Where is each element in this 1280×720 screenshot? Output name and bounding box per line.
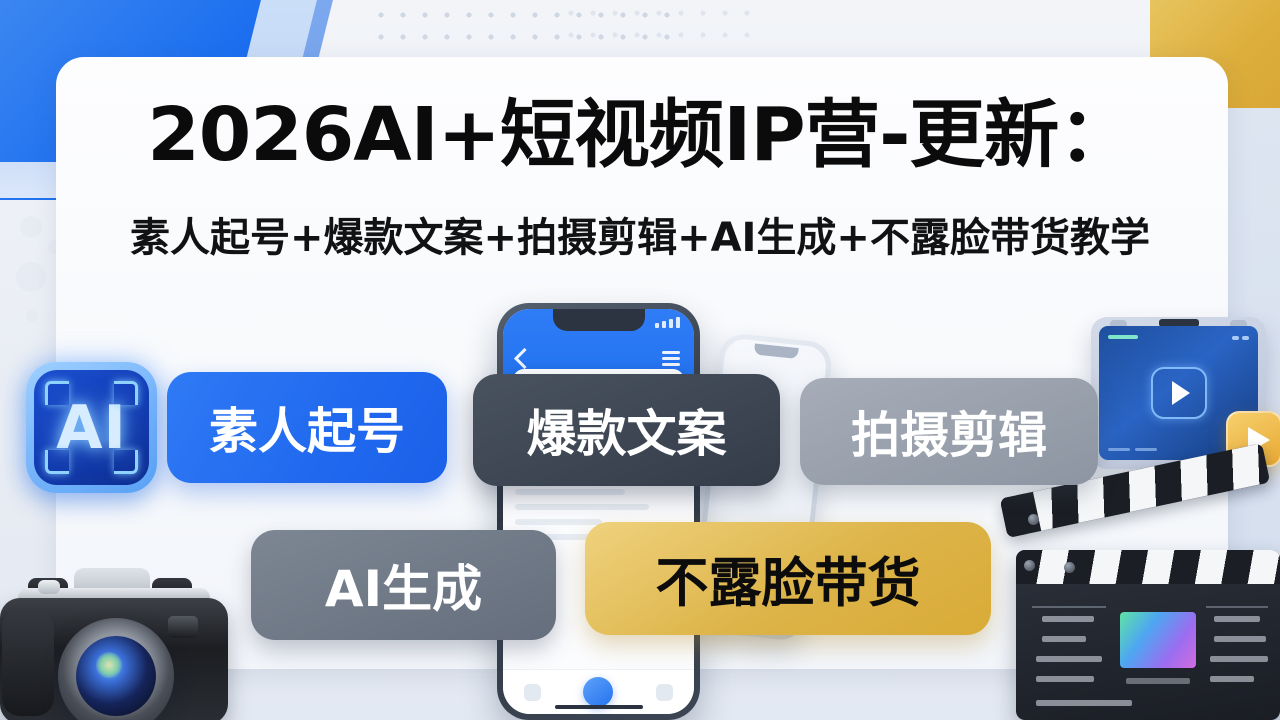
ai-scan-icon: AI <box>26 362 157 493</box>
clapperboard-slate-stripes <box>1016 550 1280 584</box>
tablet-status-right <box>1232 336 1249 340</box>
phone-notch <box>553 309 645 331</box>
scan-bracket-top-left <box>45 381 69 405</box>
lens-flare <box>96 652 122 678</box>
back-chevron-icon <box>514 348 535 369</box>
feature-pill-suren-qihao[interactable]: 素人起号 <box>167 372 447 483</box>
page-subtitle: 素人起号+爆款文案+拍摄剪辑+AI生成+不露脸带货教学 <box>0 218 1280 258</box>
nav-item-left <box>524 684 541 701</box>
camera-sensor-window <box>168 616 198 638</box>
feature-pill-baokuan-wenan[interactable]: 爆款文案 <box>473 374 780 486</box>
nav-item-center <box>583 677 613 707</box>
nav-item-right <box>656 684 673 701</box>
clapperboard-icon <box>1000 498 1280 720</box>
feature-pill-bulolian-daihuo[interactable]: 不露脸带货 <box>585 522 991 635</box>
feature-pill-ai-shengcheng[interactable]: AI生成 <box>251 530 556 640</box>
ai-icon-inner: AI <box>34 370 149 485</box>
tablet-status-left <box>1108 335 1138 339</box>
camera-shutter-button <box>38 580 60 594</box>
poster-canvas: 2026AI+短视频IP营-更新： 素人起号+爆款文案+拍摄剪辑+AI生成+不露… <box>0 0 1280 720</box>
scan-bracket-bottom-left <box>45 450 69 474</box>
smartphone-icon-primary <box>497 303 700 720</box>
page-title: 2026AI+短视频IP营-更新： <box>0 98 1280 172</box>
tablet-caption-lines <box>1108 448 1157 451</box>
home-indicator <box>555 705 643 709</box>
scan-bracket-top-right <box>114 381 138 405</box>
clapperboard-slate <box>1016 550 1280 720</box>
menu-icon <box>662 351 680 369</box>
signal-icon <box>655 317 680 328</box>
dot-pattern-top-secondary <box>560 2 750 42</box>
feature-pill-paishe-jianji[interactable]: 拍摄剪辑 <box>800 378 1098 485</box>
phone-screen <box>503 309 694 714</box>
play-icon <box>1151 367 1207 419</box>
phone-notch <box>754 343 799 359</box>
clapperboard-color-screen <box>1120 612 1196 668</box>
dslr-camera-icon <box>0 552 238 720</box>
camera-grip <box>2 610 54 716</box>
scan-bracket-bottom-right <box>114 450 138 474</box>
